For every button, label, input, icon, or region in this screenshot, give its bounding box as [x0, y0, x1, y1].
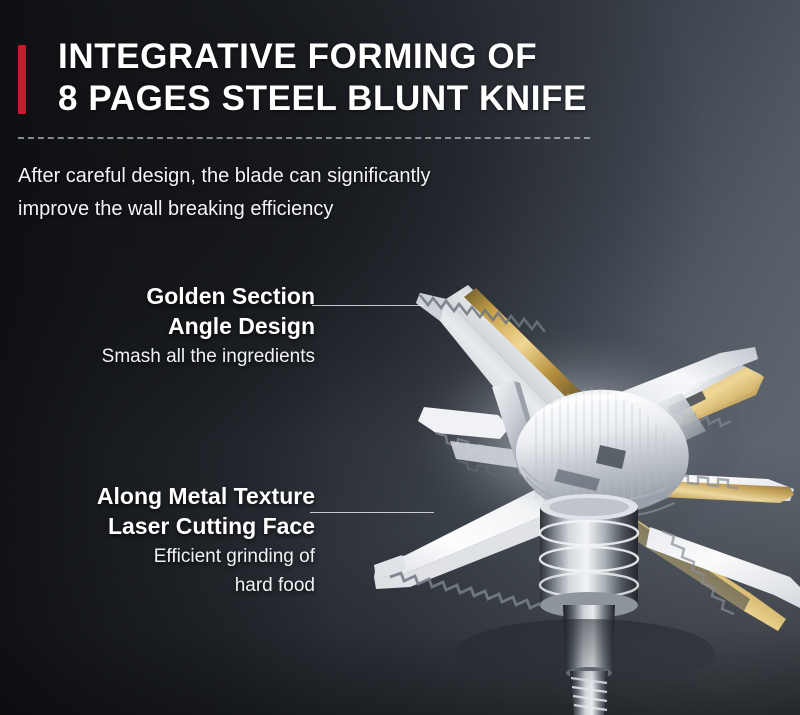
subtitle-line-2: improve the wall breaking efficiency: [18, 193, 578, 226]
dashed-divider: [18, 137, 590, 139]
annotation-1-subtitle-line-1: Smash all the ingredients: [20, 343, 315, 370]
blade-far-lower-right: [646, 527, 800, 614]
title-line-1: INTEGRATIVE FORMING OF: [58, 36, 718, 78]
blender-blade-illustration: [350, 255, 800, 715]
annotation-2-title-line-1: Along Metal Texture: [10, 481, 315, 511]
annotation-2-subtitle-line-2: hard food: [10, 572, 315, 599]
title-accent-bar: [18, 45, 26, 114]
drop-shadow: [455, 619, 715, 687]
annotation-1-title-line-2: Angle Design: [20, 311, 315, 341]
annotation-2-subtitle-line-1: Efficient grinding of: [10, 543, 315, 570]
shaft-collar: [540, 494, 638, 618]
annotation-1-title-line-1: Golden Section: [20, 281, 315, 311]
leader-line-1: [312, 305, 424, 306]
subtitle-line-1: After careful design, the blade can sign…: [18, 160, 578, 193]
leader-line-2: [310, 512, 434, 513]
page-subtitle: After careful design, the blade can sign…: [18, 160, 578, 226]
annotation-laser-cutting-face: Along Metal Texture Laser Cutting Face E…: [10, 481, 315, 599]
page-title: INTEGRATIVE FORMING OF 8 PAGES STEEL BLU…: [58, 36, 718, 120]
annotation-golden-section: Golden Section Angle Design Smash all th…: [20, 281, 315, 370]
product-feature-banner: INTEGRATIVE FORMING OF 8 PAGES STEEL BLU…: [0, 0, 800, 715]
title-line-2: 8 PAGES STEEL BLUNT KNIFE: [58, 78, 718, 120]
annotation-2-title-line-2: Laser Cutting Face: [10, 511, 315, 541]
